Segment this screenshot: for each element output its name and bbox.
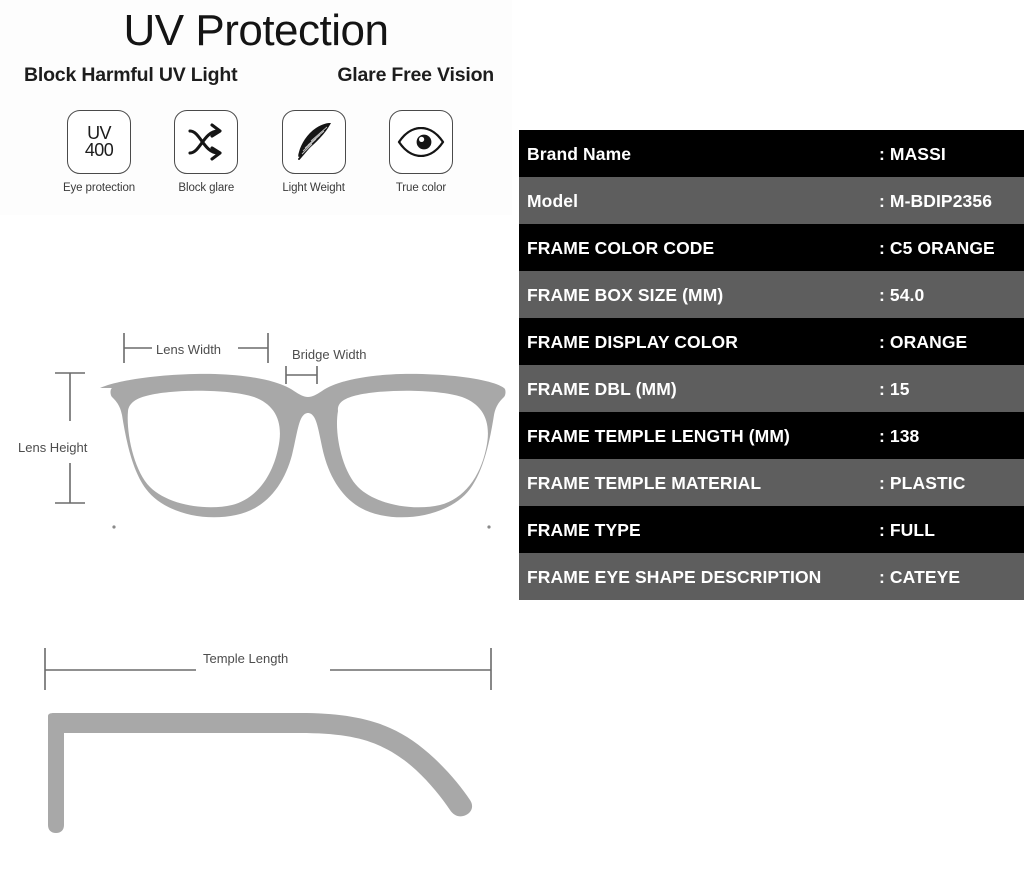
uv400-icon: UV 400 — [67, 110, 131, 174]
spec-key: FRAME DISPLAY COLOR — [527, 331, 879, 353]
spec-key: FRAME BOX SIZE (MM) — [527, 284, 879, 306]
feature-light-weight: Light Weight — [269, 110, 359, 194]
spec-key: Brand Name — [527, 143, 879, 165]
spec-value: : PLASTIC — [879, 472, 1024, 494]
spec-value: : 15 — [879, 378, 1024, 400]
table-row: Brand Name : MASSI — [519, 130, 1024, 177]
spec-key: FRAME TEMPLE LENGTH (MM) — [527, 425, 879, 447]
spec-value: : 138 — [879, 425, 1024, 447]
table-row: FRAME TEMPLE LENGTH (MM) : 138 — [519, 412, 1024, 459]
spec-value: : MASSI — [879, 143, 1024, 165]
subtitle-block-uv: Block Harmful UV Light — [24, 64, 237, 87]
spec-value: : 54.0 — [879, 284, 1024, 306]
table-row: FRAME BOX SIZE (MM) : 54.0 — [519, 271, 1024, 318]
left-illustration-panel: UV Protection Block Harmful UV Light Gla… — [0, 0, 512, 886]
table-row: Model : M-BDIP2356 — [519, 177, 1024, 224]
spec-key: FRAME DBL (MM) — [527, 378, 879, 400]
spec-value: : C5 ORANGE — [879, 237, 1024, 259]
subtitle-glare-free: Glare Free Vision — [337, 64, 494, 87]
feature-block-glare: Block glare — [161, 110, 251, 194]
table-row: FRAME DISPLAY COLOR : ORANGE — [519, 318, 1024, 365]
temple-side-diagram — [0, 640, 512, 860]
feature-icon-row: UV 400 Eye protection — [54, 110, 466, 194]
feature-label-light-weight: Light Weight — [282, 182, 345, 194]
spec-value: : FULL — [879, 519, 1024, 541]
spec-value: : M-BDIP2356 — [879, 190, 1024, 212]
table-row: FRAME EYE SHAPE DESCRIPTION : CATEYE — [519, 553, 1024, 600]
spec-key: FRAME COLOR CODE — [527, 237, 879, 259]
feature-label-block-glare: Block glare — [178, 182, 234, 194]
lens-height-label: Lens Height — [18, 440, 87, 455]
hinge-dot-left — [112, 525, 115, 528]
feature-eye-protection: UV 400 Eye protection — [54, 110, 144, 194]
uv400-line2: 400 — [85, 142, 113, 159]
table-row: FRAME TYPE : FULL — [519, 506, 1024, 553]
banner-subtitles: Block Harmful UV Light Glare Free Vision — [24, 64, 494, 87]
feature-true-color: True color — [376, 110, 466, 194]
hinge-dot-right — [487, 525, 490, 528]
feature-label-eye-protection: Eye protection — [63, 182, 135, 194]
spec-key: FRAME EYE SHAPE DESCRIPTION — [527, 566, 879, 588]
feather-icon — [282, 110, 346, 174]
eye-icon — [389, 110, 453, 174]
spec-value: : ORANGE — [879, 331, 1024, 353]
table-row: FRAME DBL (MM) : 15 — [519, 365, 1024, 412]
uv-protection-banner: UV Protection Block Harmful UV Light Gla… — [0, 0, 512, 215]
shuffle-arrows-icon — [174, 110, 238, 174]
feature-label-true-color: True color — [396, 182, 446, 194]
bridge-width-dimension — [286, 366, 317, 384]
banner-title: UV Protection — [0, 4, 512, 58]
spec-key: Model — [527, 190, 879, 212]
lens-height-dimension — [55, 373, 85, 503]
product-spec-page: UV Protection Block Harmful UV Light Gla… — [0, 0, 1024, 886]
table-row: FRAME COLOR CODE : C5 ORANGE — [519, 224, 1024, 271]
temple-arm-shape — [48, 713, 472, 833]
specification-table: Brand Name : MASSI Model : M-BDIP2356 FR… — [519, 130, 1024, 600]
bridge-width-label: Bridge Width — [292, 347, 366, 362]
spec-key: FRAME TEMPLE MATERIAL — [527, 472, 879, 494]
table-row: FRAME TEMPLE MATERIAL : PLASTIC — [519, 459, 1024, 506]
lens-width-label: Lens Width — [156, 342, 221, 357]
spec-value: : CATEYE — [879, 566, 1024, 588]
temple-length-label: Temple Length — [203, 651, 288, 666]
eyeglass-frame-shape — [100, 374, 506, 517]
spec-key: FRAME TYPE — [527, 519, 879, 541]
